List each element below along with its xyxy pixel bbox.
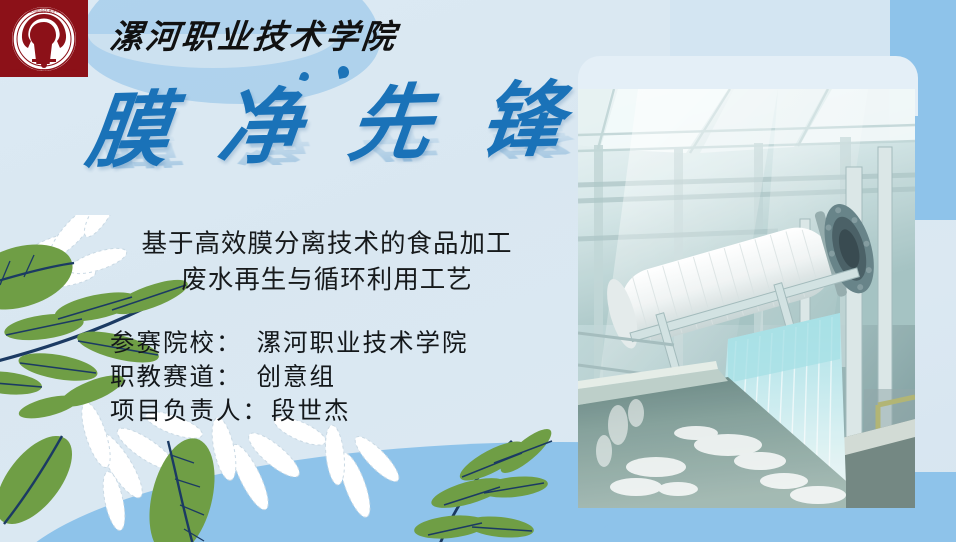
svg-text:漯河职业技术学院: 漯河职业技术学院 <box>28 7 60 13</box>
main-title-block: 膜 净 先 锋 膜 净 先 锋 <box>88 86 548 216</box>
subtitle-line-1: 基于高效膜分离技术的食品加工 <box>92 226 562 262</box>
membrane-water-treatment-plant-photo <box>578 89 915 508</box>
info-value-track: 创意组 <box>257 361 337 395</box>
entry-info-block: 参赛院校： 漯河职业技术学院 职教赛道： 创意组 项目负责人： 段世杰 <box>110 327 469 428</box>
presentation-slide: 漯河职业技术学院 LUOHE VOCATIONAL TECHNOLOGY COL… <box>0 0 956 542</box>
college-logo-badge: 漯河职业技术学院 LUOHE VOCATIONAL TECHNOLOGY COL… <box>0 0 88 77</box>
info-row-track: 职教赛道： 创意组 <box>110 361 469 395</box>
info-label-leader: 项目负责人： <box>110 395 269 429</box>
info-value-leader: 段世杰 <box>271 395 351 429</box>
project-subtitle: 基于高效膜分离技术的食品加工 废水再生与循环利用工艺 <box>92 226 562 298</box>
info-row-school: 参赛院校： 漯河职业技术学院 <box>110 327 469 361</box>
college-seal-icon: 漯河职业技术学院 LUOHE VOCATIONAL TECHNOLOGY COL… <box>10 5 78 73</box>
institution-name-header: 漯河职业技术学院 <box>107 10 400 58</box>
svg-text:LUOHE VOCATIONAL TECHNOLOGY CO: LUOHE VOCATIONAL TECHNOLOGY COLLEGE <box>11 68 78 72</box>
info-label-school: 参赛院校： <box>110 327 243 361</box>
info-row-leader: 项目负责人： 段世杰 <box>110 395 469 429</box>
info-label-track: 职教赛道： <box>110 361 243 395</box>
subtitle-line-2: 废水再生与循环利用工艺 <box>92 262 562 298</box>
info-value-school: 漯河职业技术学院 <box>257 327 469 361</box>
